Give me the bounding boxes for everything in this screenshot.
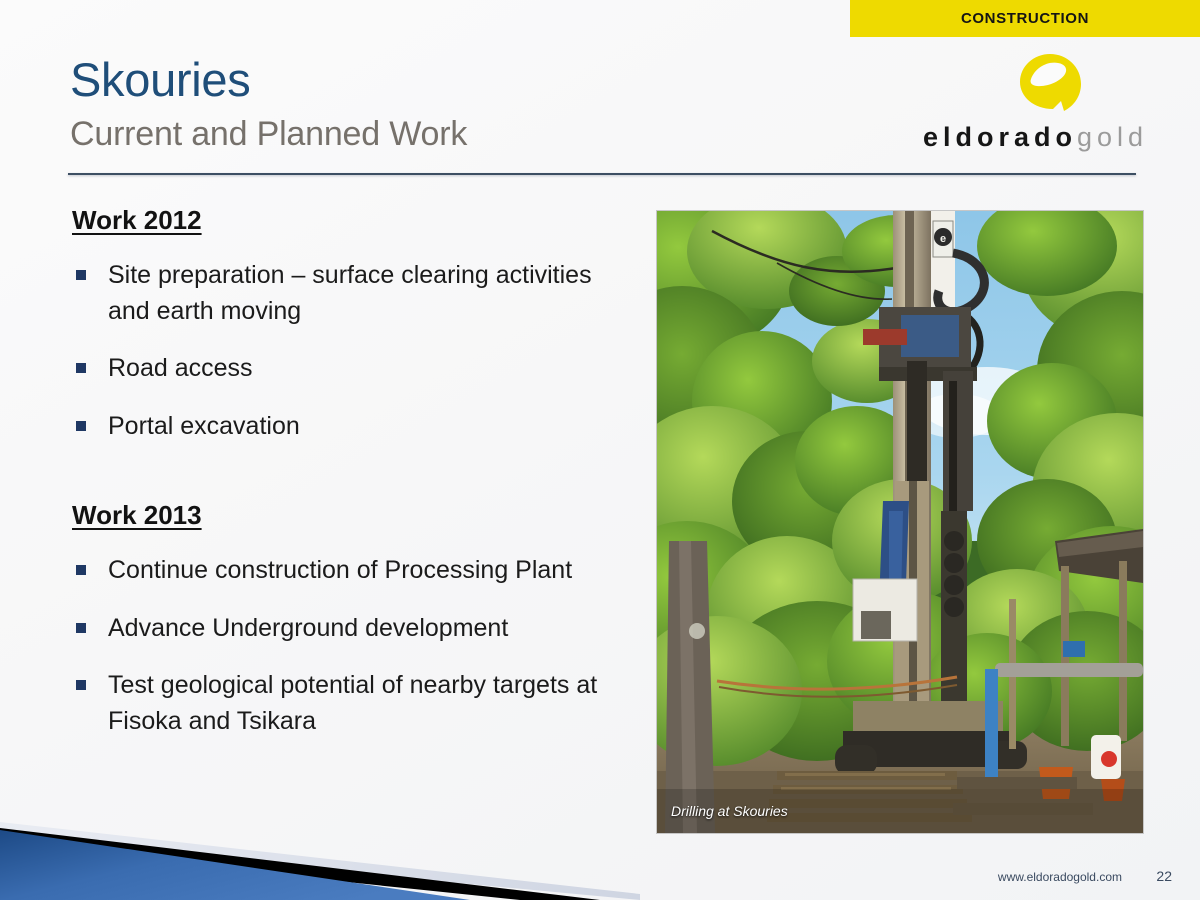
svg-text:e: e [940, 233, 946, 245]
content-body: Work 2012 Site preparation – surface cle… [72, 205, 632, 795]
list-item-text: Advance Underground development [108, 614, 508, 642]
footer-website-url[interactable]: www.eldoradogold.com [998, 870, 1122, 884]
content-group-2013: Work 2013 Continue construction of Proce… [72, 500, 632, 739]
list-item: Road access [72, 351, 632, 387]
page-subtitle: Current and Planned Work [70, 115, 467, 154]
list-item: Site preparation – surface clearing acti… [72, 258, 632, 329]
bullet-list: Site preparation – surface clearing acti… [72, 258, 632, 444]
group-heading: Work 2012 [72, 205, 202, 236]
group-heading: Work 2013 [72, 500, 202, 531]
logo-word-eldorado: eldorado [923, 122, 1077, 152]
list-item: Test geological potential of nearby targ… [72, 668, 632, 739]
bullet-square-icon [76, 565, 86, 575]
section-tag-banner: CONSTRUCTION [850, 0, 1200, 37]
drill-rig-photo: e [656, 210, 1144, 834]
list-item: Portal excavation [72, 409, 632, 445]
photo-caption: Drilling at Skouries [671, 803, 788, 819]
bullet-square-icon [76, 623, 86, 633]
bullet-square-icon [76, 680, 86, 690]
content-group-2012: Work 2012 Site preparation – surface cle… [72, 205, 632, 444]
list-item-text: Road access [108, 354, 253, 382]
list-item-text: Continue construction of Processing Plan… [108, 556, 572, 584]
logo-word-gold: gold [1077, 122, 1148, 152]
eldorado-swirl-mark-icon [1017, 52, 1083, 118]
page-number: 22 [1156, 868, 1172, 884]
footer-decorative-wedge [0, 808, 640, 900]
list-item-text: Site preparation – surface clearing acti… [108, 261, 592, 325]
title-divider-rule [68, 173, 1136, 175]
list-item-text: Test geological potential of nearby targ… [108, 671, 597, 735]
bullet-square-icon [76, 363, 86, 373]
page-title: Skouries [70, 52, 250, 107]
bullet-list: Continue construction of Processing Plan… [72, 553, 632, 739]
presentation-slide: CONSTRUCTION Skouries Current and Planne… [0, 0, 1200, 900]
list-item: Advance Underground development [72, 611, 632, 647]
bullet-square-icon [76, 421, 86, 431]
section-tag-label: CONSTRUCTION [961, 10, 1089, 27]
eldorado-gold-logo: eldoradogold [893, 52, 1148, 162]
logo-wordmark: eldoradogold [893, 122, 1148, 153]
list-item-text: Portal excavation [108, 412, 300, 440]
list-item: Continue construction of Processing Plan… [72, 553, 632, 589]
bullet-square-icon [76, 270, 86, 280]
